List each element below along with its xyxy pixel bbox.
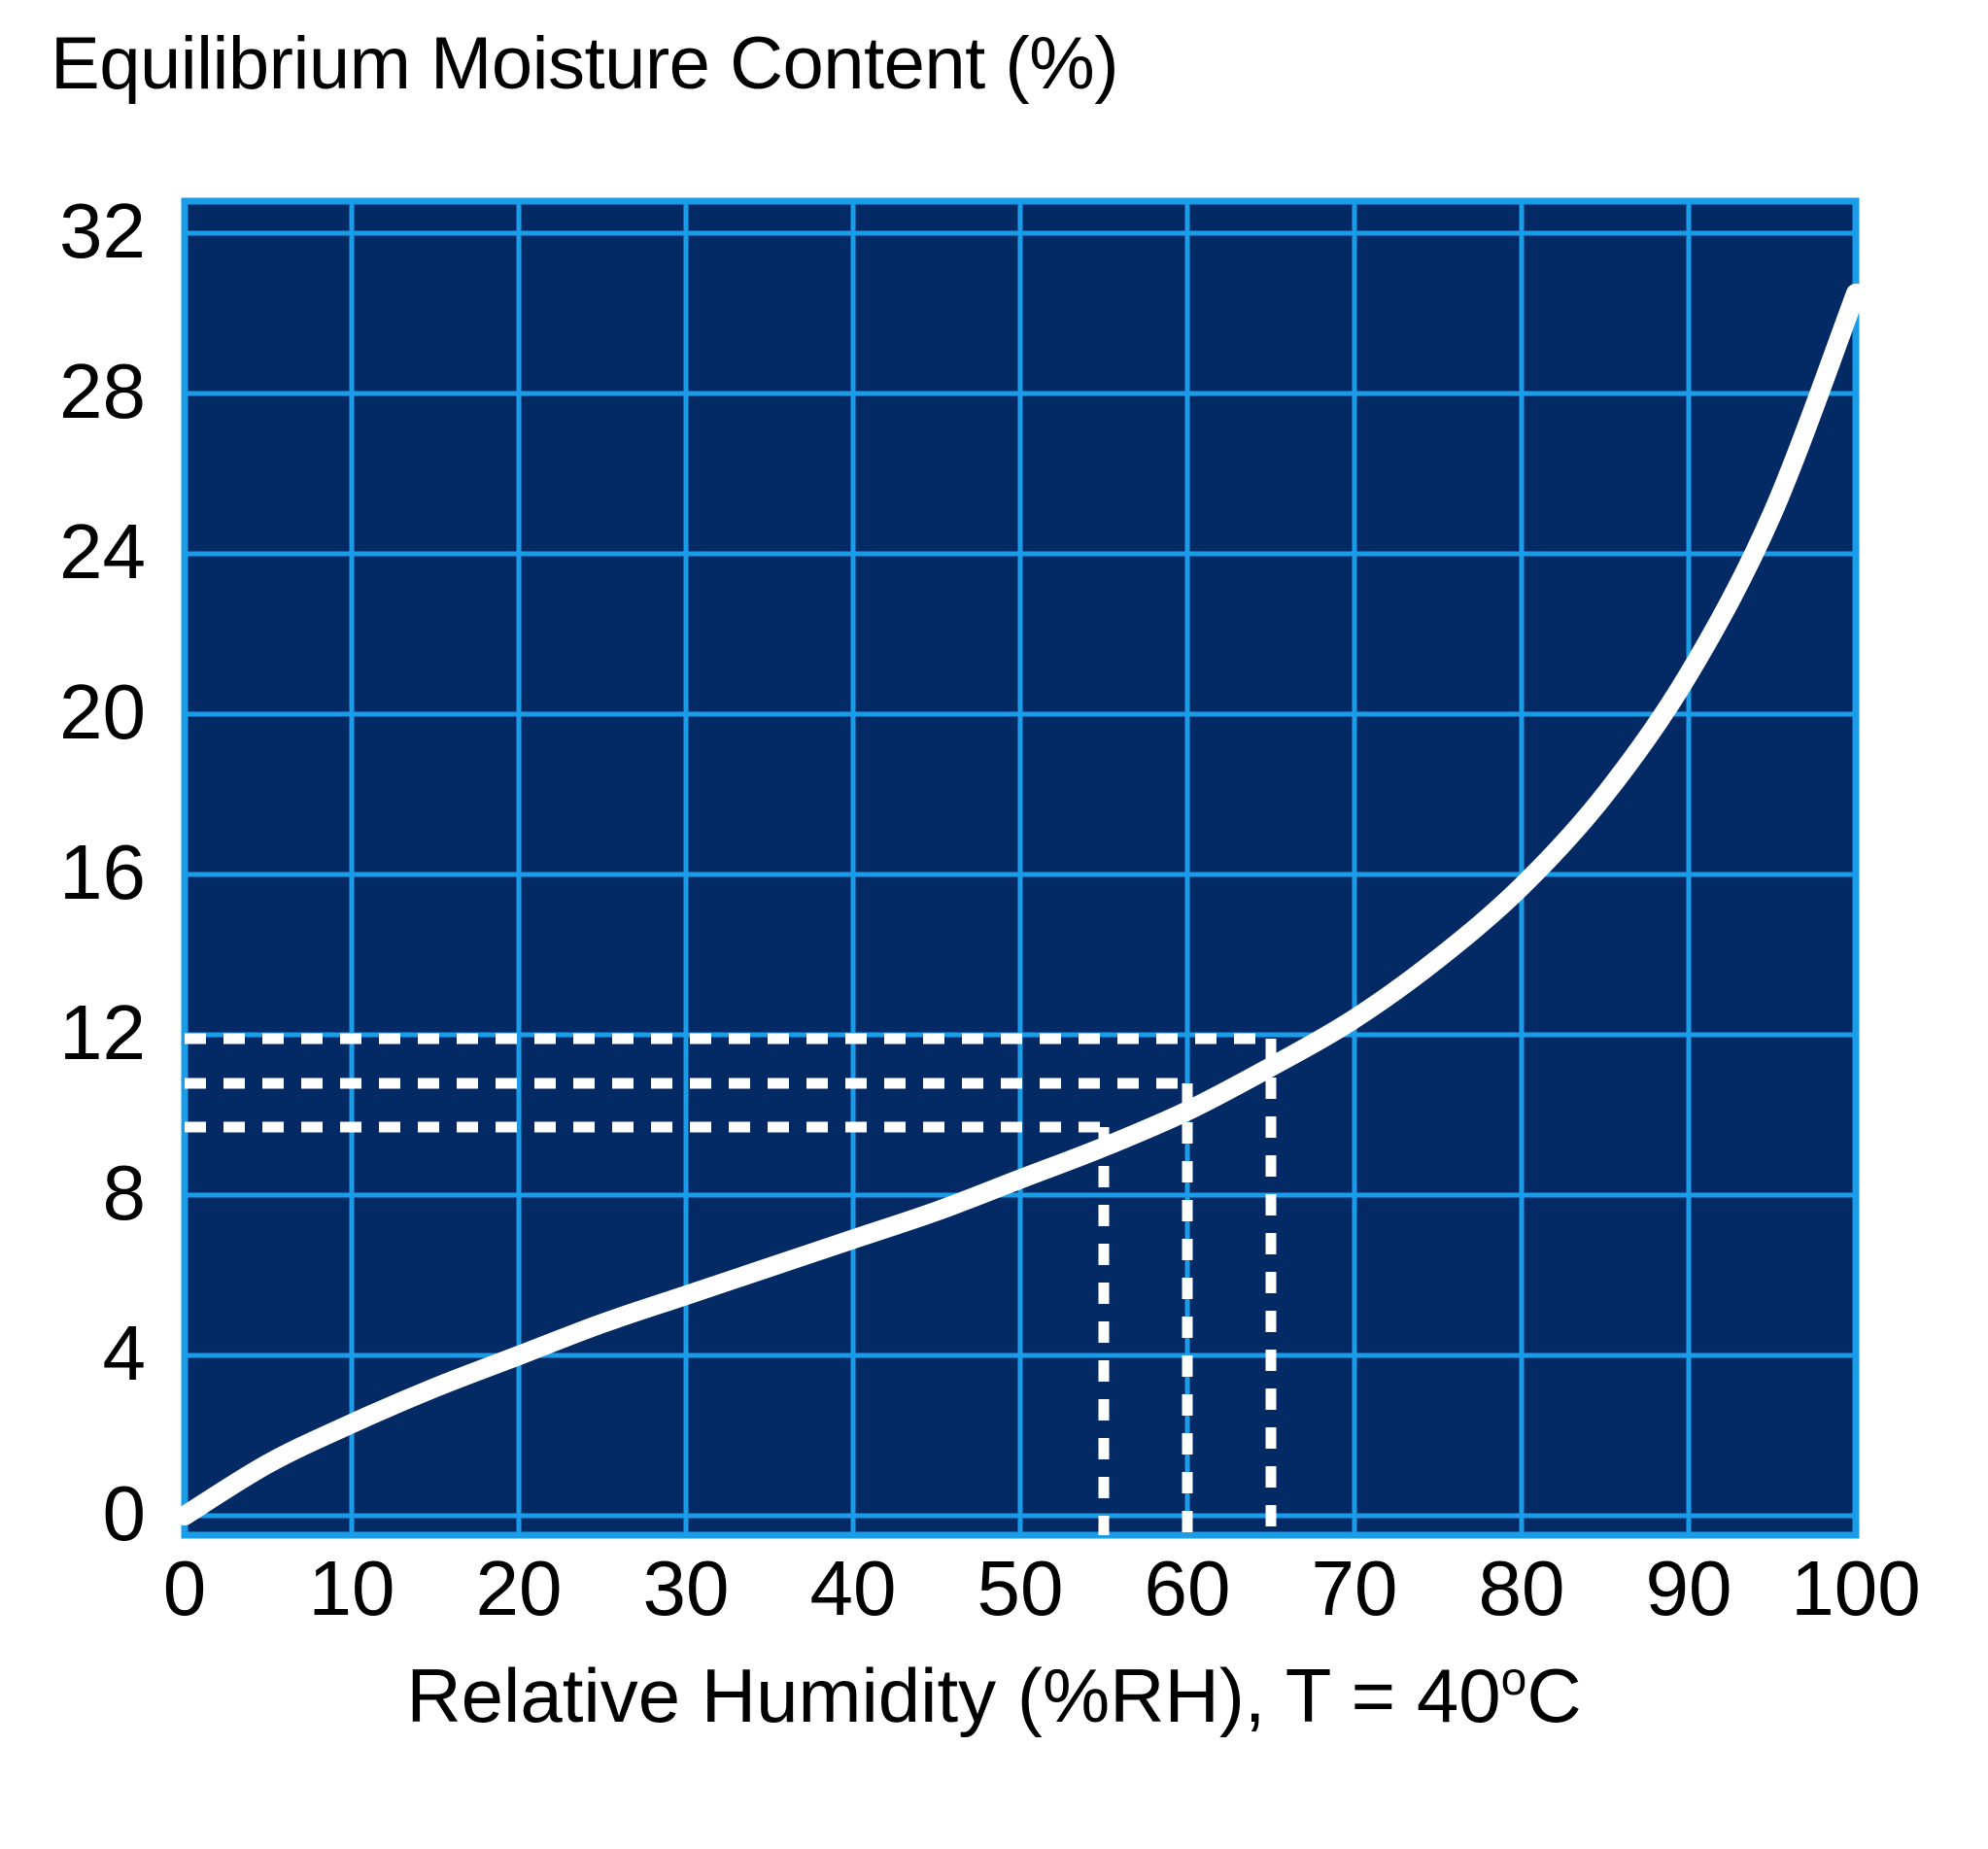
y-axis-tick-label: 4	[0, 1315, 146, 1392]
y-axis-tick-label: 8	[0, 1154, 146, 1232]
y-axis-tick-label: 32	[0, 192, 146, 270]
x-axis-tick-label: 80	[1434, 1550, 1609, 1627]
x-axis-tick-label: 50	[933, 1550, 1108, 1627]
x-axis-tick-label: 100	[1768, 1550, 1943, 1627]
x-axis-tick-label: 20	[431, 1550, 606, 1627]
degree-symbol: o	[1501, 1654, 1527, 1705]
y-axis-tick-label: 16	[0, 834, 146, 911]
x-axis-label: Relative Humidity (%RH), T = 40oC	[0, 1652, 1988, 1740]
x-axis-label-suffix: C	[1526, 1653, 1581, 1738]
x-axis-tick-label: 90	[1601, 1550, 1776, 1627]
y-axis-tick-label: 20	[0, 673, 146, 751]
chart-figure: Equilibrium Moisture Content (%) 0481216…	[0, 0, 1988, 1849]
x-axis-tick-label: 70	[1267, 1550, 1442, 1627]
x-axis-tick-label: 60	[1100, 1550, 1275, 1627]
x-axis-tick-label: 0	[97, 1550, 272, 1627]
y-axis-tick-label: 24	[0, 513, 146, 591]
y-axis-tick-label: 12	[0, 994, 146, 1072]
x-axis-label-prefix: Relative Humidity (%RH), T = 40	[406, 1653, 1500, 1738]
y-axis-tick-label: 0	[0, 1475, 146, 1553]
y-axis-tick-label: 28	[0, 353, 146, 430]
x-axis-tick-label: 10	[264, 1550, 439, 1627]
x-axis-tick-label: 40	[766, 1550, 941, 1627]
x-axis-tick-label: 30	[599, 1550, 773, 1627]
